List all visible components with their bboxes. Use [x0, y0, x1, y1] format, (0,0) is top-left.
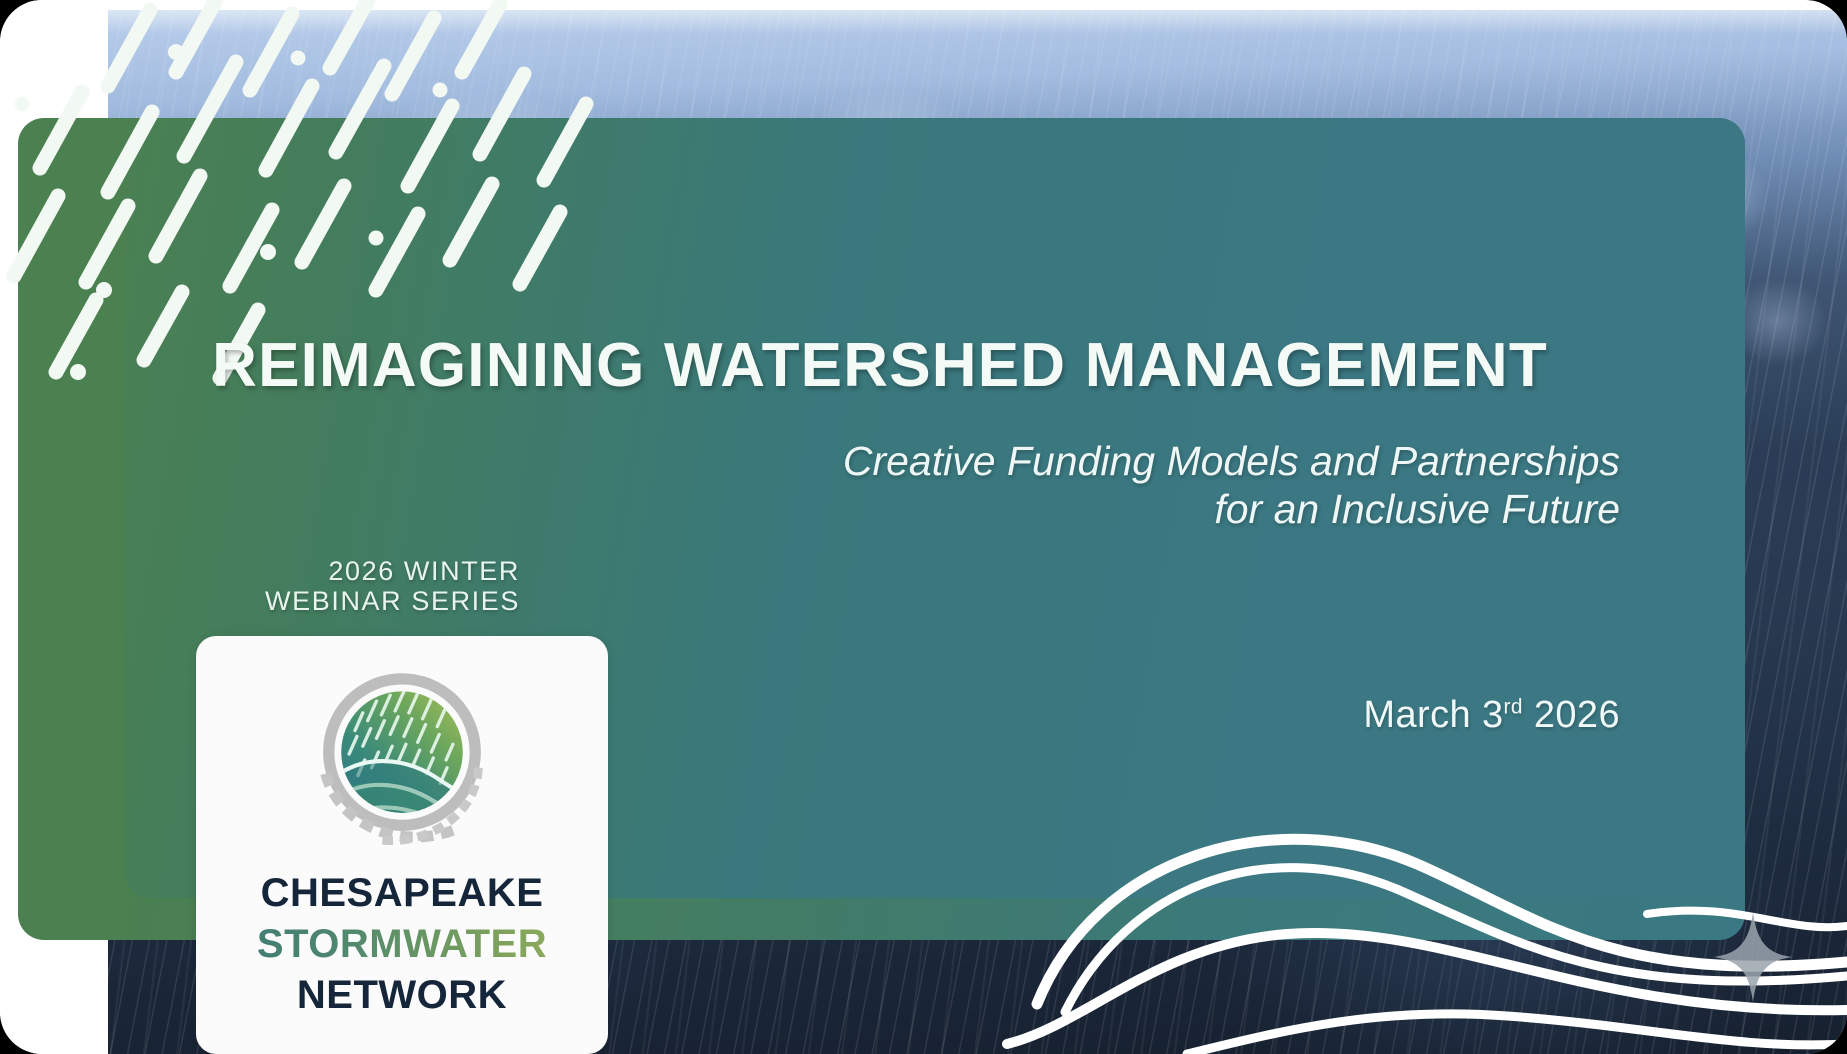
date-ordinal-suffix: rd [1504, 695, 1523, 718]
page-title: REIMAGINING WATERSHED MANAGEMENT [140, 330, 1620, 401]
series-line-1: 2026 WINTER [170, 556, 520, 586]
presentation-slide: REIMAGINING WATERSHED MANAGEMENT Creativ… [0, 0, 1847, 1054]
organization-logo-card: CHESAPEAKE STORMWATER NETWORK [196, 636, 608, 1054]
logo-word-stormwater: STORMWATER [196, 919, 608, 970]
logo-wordmark: CHESAPEAKE STORMWATER NETWORK [196, 868, 608, 1022]
four-point-sparkle-icon [1713, 912, 1793, 1002]
date-month-day: March 3 [1363, 694, 1503, 736]
chesapeake-stormwater-network-emblem [304, 658, 500, 854]
logo-word-chesapeake: CHESAPEAKE [196, 868, 608, 919]
event-date: March 3rd 2026 [1020, 694, 1620, 737]
date-year: 2026 [1534, 694, 1620, 736]
slide-top-margin [0, 0, 1847, 10]
subtitle-line-2: for an Inclusive Future [500, 485, 1620, 533]
subtitle-line-1: Creative Funding Models and Partnerships [500, 437, 1620, 485]
slide-frame: REIMAGINING WATERSHED MANAGEMENT Creativ… [0, 0, 1847, 1054]
logo-word-network: NETWORK [196, 970, 608, 1021]
webinar-series-label: 2026 WINTER WEBINAR SERIES [170, 556, 520, 616]
page-subtitle: Creative Funding Models and Partnerships… [500, 437, 1620, 534]
series-line-2: WEBINAR SERIES [170, 586, 520, 616]
